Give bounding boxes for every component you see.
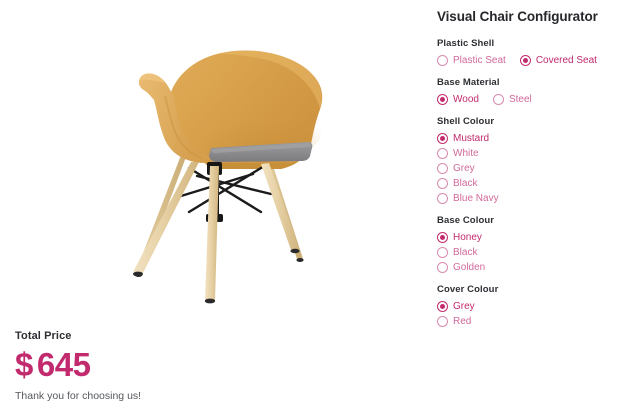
radio-option-plastic-seat[interactable]: Plastic Seat <box>437 55 506 66</box>
group-label-base-colour: Base Colour <box>437 215 640 226</box>
options-cover-colour: Grey Red <box>437 301 640 327</box>
option-label: Covered Seat <box>536 56 597 66</box>
radio-circle-icon[interactable] <box>437 193 448 204</box>
thank-you-note: Thank you for choosing us! <box>15 390 415 402</box>
radio-option-base-black[interactable]: Black <box>437 247 640 258</box>
total-price-label: Total Price <box>15 330 415 342</box>
chair-front-legs <box>133 162 300 303</box>
price-number: 645 <box>37 346 91 383</box>
option-label: Red <box>453 317 471 327</box>
option-label: Black <box>453 248 477 258</box>
option-group-base-colour: Base Colour Honey Black Golden <box>437 215 640 273</box>
radio-option-blue-navy[interactable]: Blue Navy <box>437 193 640 204</box>
radio-circle-icon[interactable] <box>437 163 448 174</box>
price-summary: Total Price $645 Thank you for choosing … <box>15 330 415 402</box>
option-label: Plastic Seat <box>453 56 506 66</box>
radio-option-golden[interactable]: Golden <box>437 262 640 273</box>
radio-option-covered-seat[interactable]: Covered Seat <box>520 55 597 66</box>
radio-option-mustard[interactable]: Mustard <box>437 133 640 144</box>
group-label-shell-colour: Shell Colour <box>437 116 640 127</box>
configurator-panel: Visual Chair Configurator Plastic Shell … <box>430 0 640 415</box>
options-base-material: Wood Steel <box>437 94 640 105</box>
options-base-colour: Honey Black Golden <box>437 232 640 273</box>
option-group-cover-colour: Cover Colour Grey Red <box>437 284 640 327</box>
options-shell-colour: Mustard White Grey Black Blue Navy <box>437 133 640 204</box>
radio-circle-selected-icon[interactable] <box>437 133 448 144</box>
radio-circle-icon[interactable] <box>437 178 448 189</box>
radio-option-steel[interactable]: Steel <box>493 94 532 105</box>
radio-option-cover-red[interactable]: Red <box>437 316 640 327</box>
option-label: Black <box>453 179 477 189</box>
total-price-value: $645 <box>15 348 415 381</box>
option-label: Wood <box>453 95 479 105</box>
product-preview-panel: Total Price $645 Thank you for choosing … <box>0 0 430 415</box>
radio-option-honey[interactable]: Honey <box>437 232 640 243</box>
radio-circle-icon[interactable] <box>437 262 448 273</box>
currency-symbol: $ <box>15 346 33 383</box>
chair-illustration <box>65 16 365 306</box>
radio-option-black[interactable]: Black <box>437 178 640 189</box>
radio-circle-icon[interactable] <box>437 55 448 66</box>
radio-option-grey[interactable]: Grey <box>437 163 640 174</box>
option-group-plastic-shell: Plastic Shell Plastic Seat Covered Seat <box>437 38 640 66</box>
radio-circle-icon[interactable] <box>437 316 448 327</box>
group-label-plastic-shell: Plastic Shell <box>437 38 640 49</box>
radio-option-wood[interactable]: Wood <box>437 94 479 105</box>
base-wire-struts <box>181 166 271 224</box>
radio-circle-selected-icon[interactable] <box>520 55 531 66</box>
option-label: White <box>453 149 479 159</box>
radio-circle-icon[interactable] <box>437 247 448 258</box>
option-label: Grey <box>453 164 475 174</box>
radio-option-cover-grey[interactable]: Grey <box>437 301 640 312</box>
page-title: Visual Chair Configurator <box>437 9 640 24</box>
chair-preview-stage <box>0 0 430 318</box>
radio-circle-icon[interactable] <box>437 148 448 159</box>
group-label-cover-colour: Cover Colour <box>437 284 640 295</box>
configurator-app: Total Price $645 Thank you for choosing … <box>0 0 640 415</box>
radio-circle-icon[interactable] <box>493 94 504 105</box>
option-label: Blue Navy <box>453 194 499 204</box>
option-label: Steel <box>509 95 532 105</box>
option-label: Honey <box>453 233 482 243</box>
radio-circle-selected-icon[interactable] <box>437 94 448 105</box>
radio-circle-selected-icon[interactable] <box>437 301 448 312</box>
radio-circle-selected-icon[interactable] <box>437 232 448 243</box>
option-label: Grey <box>453 302 475 312</box>
group-label-base-material: Base Material <box>437 77 640 88</box>
option-group-shell-colour: Shell Colour Mustard White Grey Black <box>437 116 640 204</box>
option-label: Golden <box>453 263 485 273</box>
options-plastic-shell: Plastic Seat Covered Seat <box>437 55 640 66</box>
option-label: Mustard <box>453 134 489 144</box>
option-group-base-material: Base Material Wood Steel <box>437 77 640 105</box>
radio-option-white[interactable]: White <box>437 148 640 159</box>
